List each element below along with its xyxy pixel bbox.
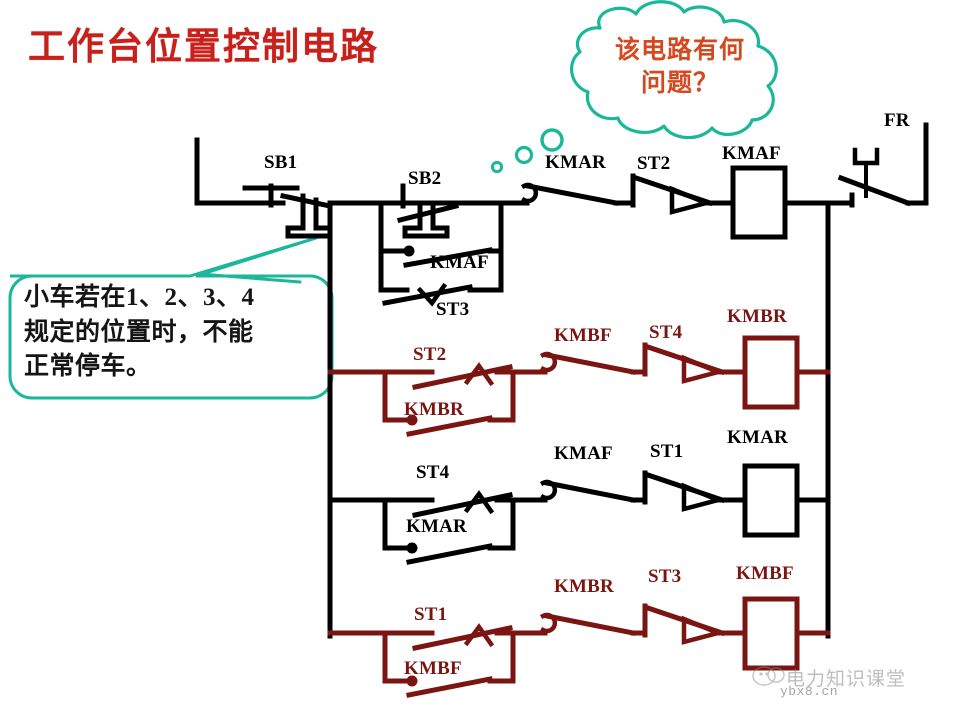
label-row2-st2: ST2 [413,344,446,366]
label-fr: FR [884,110,910,132]
label-kmar-nc: KMAR [545,152,606,174]
row4-kmbf-blade [409,679,490,695]
label-sb1: SB1 [264,152,297,174]
label-row4-st3: ST3 [648,566,681,588]
page-title: 工作台位置控制电路 [28,16,379,70]
label-row3-kmar-contact: KMAR [406,516,467,538]
watermark-url: ybx8.cn [780,684,838,699]
callout-line-3: 正常停车。 [24,350,324,385]
callout-line-2: 规定的位置时，不能 [24,316,324,351]
kmaf-branch-left [381,203,404,251]
row3-kmar-blade [409,546,490,562]
sb1-blade [283,196,330,206]
watermark-smiley-icon [752,664,786,688]
label-row2-st4: ST4 [649,322,682,344]
row2-coil-box [745,338,797,407]
diagram-canvas: 工作台位置控制电路 该电路有何 问题？ 小车若在1、2、3、4 规定的位置时，不… [0,0,960,720]
row3-coil-box [745,466,797,535]
row3-kmar-right [490,500,513,548]
label-row2-kmbr-contact: KMBR [404,399,464,421]
row4-kmbf-right [490,633,513,681]
fr-out-rail [908,125,926,203]
callout-line-1: 小车若在1、2、3、4 [24,281,324,316]
st2-nc-triangle [672,189,706,212]
row2-kmbf-blade [547,355,633,372]
row4-st3-triangle [684,619,718,642]
row3-kmar-pivot [407,543,418,554]
label-kmaf-coil: KMAF [722,143,781,165]
thought-bubble-text: 该电路有何 问题？ [566,34,794,100]
bubble-line-1: 该电路有何 [566,34,794,67]
kmaf-pivot-dot [404,246,415,257]
st3-branch-left [381,251,407,290]
callout-text: 小车若在1、2、3、4 规定的位置时，不能 正常停车。 [24,281,324,385]
bubble-line-2: 问题？ [566,67,794,100]
label-row3-kmaf: KMAF [554,443,613,465]
label-row4-st1: ST1 [414,604,447,626]
label-row4-coil: KMBF [736,563,794,585]
row2-st4-triangle [684,358,718,381]
label-kmaf-sealin: KMAF [430,252,489,274]
row3-kmaf-blade [547,483,633,500]
label-row4-kmbf-contact: KMBF [404,658,462,680]
row3-st1-triangle [684,486,718,509]
label-row2-coil: KMBR [727,306,787,328]
label-row3-coil: KMAR [727,427,788,449]
kmaf-coil-box [733,168,785,237]
label-st2-nc: ST2 [637,153,670,175]
row4-kmbr-blade [547,616,633,633]
label-st3-branch: ST3 [436,299,469,321]
row2-kmbr-right [490,372,513,420]
row3-kmar-left [385,500,408,548]
label-row3-st1: ST1 [650,441,683,463]
label-row2-kmbf: KMBF [554,325,612,347]
label-row4-kmbr: KMBR [554,576,614,598]
row-3-circuit [330,466,828,562]
sb2-blade [400,206,456,220]
label-sb2: SB2 [408,168,441,190]
kmar-nc-blade [528,186,616,203]
label-row3-st4: ST4 [416,462,449,484]
row4-coil-box [745,599,797,668]
